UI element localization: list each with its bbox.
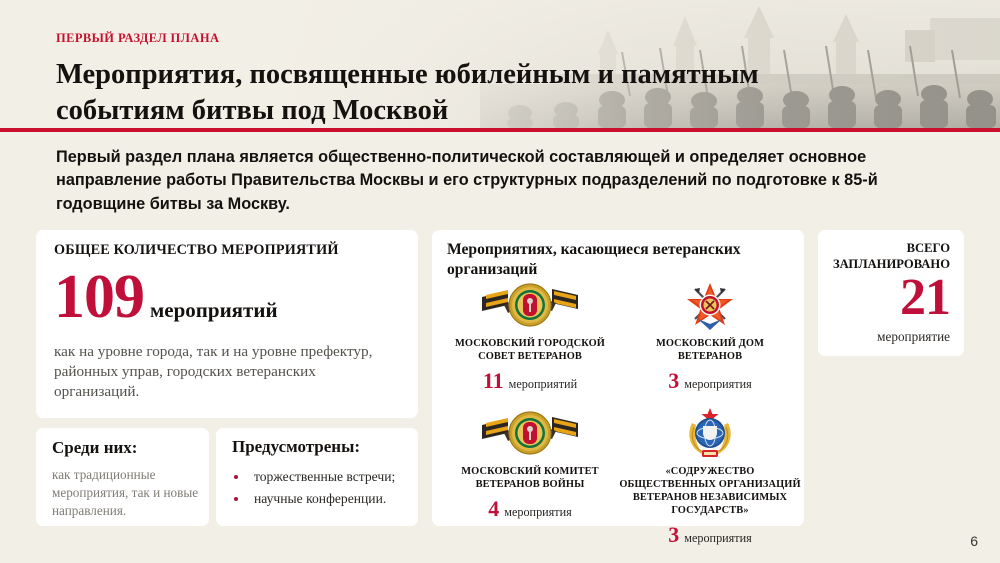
slide-header: ПЕРВЫЙ РАЗДЕЛ ПЛАНА Мероприятия, посвяще… (0, 0, 1000, 128)
organization-name: МОСКОВСКИЙ ГОРОДСКОЙ СОВЕТ ВЕТЕРАНОВ (440, 337, 620, 363)
organization-count-unit: мероприятия (684, 377, 752, 392)
globe-wreath-star-icon (618, 406, 802, 462)
section-eyebrow: ПЕРВЫЙ РАЗДЕЛ ПЛАНА (56, 31, 916, 46)
total-events-number: 109 (54, 266, 144, 328)
organization-item-1: МОСКОВСКИЙ ГОРОДСКОЙ СОВЕТ ВЕТЕРАНОВ 11 … (440, 278, 620, 392)
organization-count-unit: мероприятия (504, 505, 572, 520)
organization-count: 4 (488, 498, 499, 520)
moscow-coat-of-arms-medal-icon (440, 406, 620, 462)
total-events-card: ОБЩЕЕ КОЛИЧЕСТВО МЕРОПРИЯТИЙ 109 меропри… (36, 230, 418, 418)
organization-count-row: 3 мероприятия (624, 370, 796, 392)
red-star-crossed-swords-icon (624, 278, 796, 334)
list-item: торжественные встречи; (230, 466, 395, 488)
organization-item-2: МОСКОВСКИЙ ДОМ ВЕТЕРАНОВ 3 мероприятия (624, 278, 796, 392)
organization-item-4: «СОДРУЖЕСТВО ОБЩЕСТВЕННЫХ ОРГАНИЗАЦИЙ ВЕ… (618, 406, 802, 546)
organization-count-row: 3 мероприятия (618, 524, 802, 546)
total-planned-number: 21 (900, 272, 950, 324)
bullet-icon (234, 475, 238, 479)
organization-count-row: 11 мероприятий (440, 370, 620, 392)
planned-activities-list: торжественные встречи; научные конференц… (230, 466, 395, 510)
slide-root: ПЕРВЫЙ РАЗДЕЛ ПЛАНА Мероприятия, посвяще… (0, 0, 1000, 563)
header-content: ПЕРВЫЙ РАЗДЕЛ ПЛАНА Мероприятия, посвяще… (56, 0, 916, 128)
bullet-icon (234, 497, 238, 501)
planned-activities-card: Предусмотрены: торжественные встречи; на… (216, 428, 418, 526)
among-them-title: Среди них: (52, 438, 137, 458)
veteran-organizations-title: Мероприятиях, касающиеся ветеранских орг… (447, 240, 777, 280)
total-events-value-row: 109 мероприятий (54, 266, 278, 328)
total-events-label: ОБЩЕЕ КОЛИЧЕСТВО МЕРОПРИЯТИЙ (54, 242, 339, 259)
total-events-unit: мероприятий (150, 298, 278, 323)
organization-count: 3 (668, 524, 679, 546)
list-item-label: торжественные встречи; (254, 469, 395, 484)
header-accent-bar (0, 128, 1000, 132)
organization-name: МОСКОВСКИЙ ДОМ ВЕТЕРАНОВ (624, 337, 796, 363)
organization-count-unit: мероприятий (509, 377, 577, 392)
list-item: научные конференции. (230, 488, 395, 510)
organization-item-3: МОСКОВСКИЙ КОМИТЕТ ВЕТЕРАНОВ ВОЙНЫ 4 мер… (440, 406, 620, 520)
page-number: 6 (970, 533, 978, 549)
list-item-label: научные конференции. (254, 491, 386, 506)
among-them-text: как традиционные мероприятия, так и новы… (52, 466, 202, 519)
among-them-card: Среди них: как традиционные мероприятия,… (36, 428, 209, 526)
total-events-note: как на уровне города, так и на уровне пр… (54, 342, 402, 403)
organization-name: «СОДРУЖЕСТВО ОБЩЕСТВЕННЫХ ОРГАНИЗАЦИЙ ВЕ… (618, 465, 802, 517)
planned-activities-title: Предусмотрены: (232, 437, 360, 457)
intro-paragraph: Первый раздел плана является общественно… (56, 146, 956, 216)
organization-count-row: 4 мероприятия (440, 498, 620, 520)
veteran-organizations-card: Мероприятиях, касающиеся ветеранских орг… (432, 230, 804, 526)
organization-count: 11 (483, 370, 504, 392)
total-planned-card: ВСЕГО ЗАПЛАНИРОВАНО 21 мероприятие (818, 230, 964, 356)
total-planned-label: ВСЕГО ЗАПЛАНИРОВАНО (818, 241, 950, 272)
page-title: Мероприятия, посвященные юбилейным и пам… (56, 57, 886, 128)
organization-count: 3 (668, 370, 679, 392)
organization-name: МОСКОВСКИЙ КОМИТЕТ ВЕТЕРАНОВ ВОЙНЫ (440, 465, 620, 491)
organization-count-unit: мероприятия (684, 531, 752, 546)
total-planned-unit: мероприятие (877, 329, 950, 345)
moscow-coat-of-arms-medal-icon (440, 278, 620, 334)
